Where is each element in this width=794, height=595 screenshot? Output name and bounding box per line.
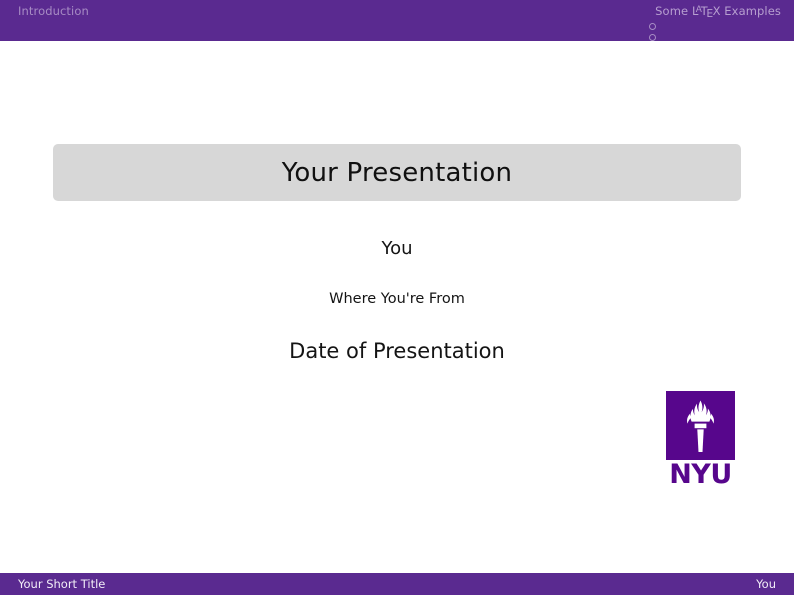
nyu-logo: NYU xyxy=(666,391,735,489)
latex-a: A xyxy=(696,5,702,15)
author-name: You xyxy=(0,238,794,259)
institute-name: Where You're From xyxy=(0,291,794,307)
presentation-slide: Introduction Some LATEX Examples Your Pr… xyxy=(0,0,794,595)
title-block: Your Presentation xyxy=(53,144,741,201)
header-section-label[interactable]: Introduction xyxy=(18,4,89,18)
nav-dot-2[interactable] xyxy=(649,34,656,41)
torch-icon xyxy=(681,399,720,453)
header-navigation-bullets xyxy=(649,23,656,45)
header-subsection-prefix: Some xyxy=(655,4,692,18)
slide-header-bar: Introduction Some LATEX Examples xyxy=(0,0,794,41)
latex-x: X xyxy=(713,4,721,18)
latex-logo: LATEX xyxy=(692,4,721,18)
header-right-group: Some LATEX Examples xyxy=(655,4,781,18)
footer-author: You xyxy=(756,577,776,591)
footer-short-title: Your Short Title xyxy=(18,577,105,591)
presentation-date: Date of Presentation xyxy=(0,339,794,363)
slide-footer-bar: Your Short Title You xyxy=(0,573,794,595)
latex-e: E xyxy=(706,7,713,20)
nav-dot-1[interactable] xyxy=(649,23,656,30)
header-subsection-suffix: Examples xyxy=(721,4,781,18)
nyu-wordmark: NYU xyxy=(665,461,736,488)
header-subsection-label[interactable]: Some LATEX Examples xyxy=(655,4,781,18)
page-title: Your Presentation xyxy=(53,158,741,188)
